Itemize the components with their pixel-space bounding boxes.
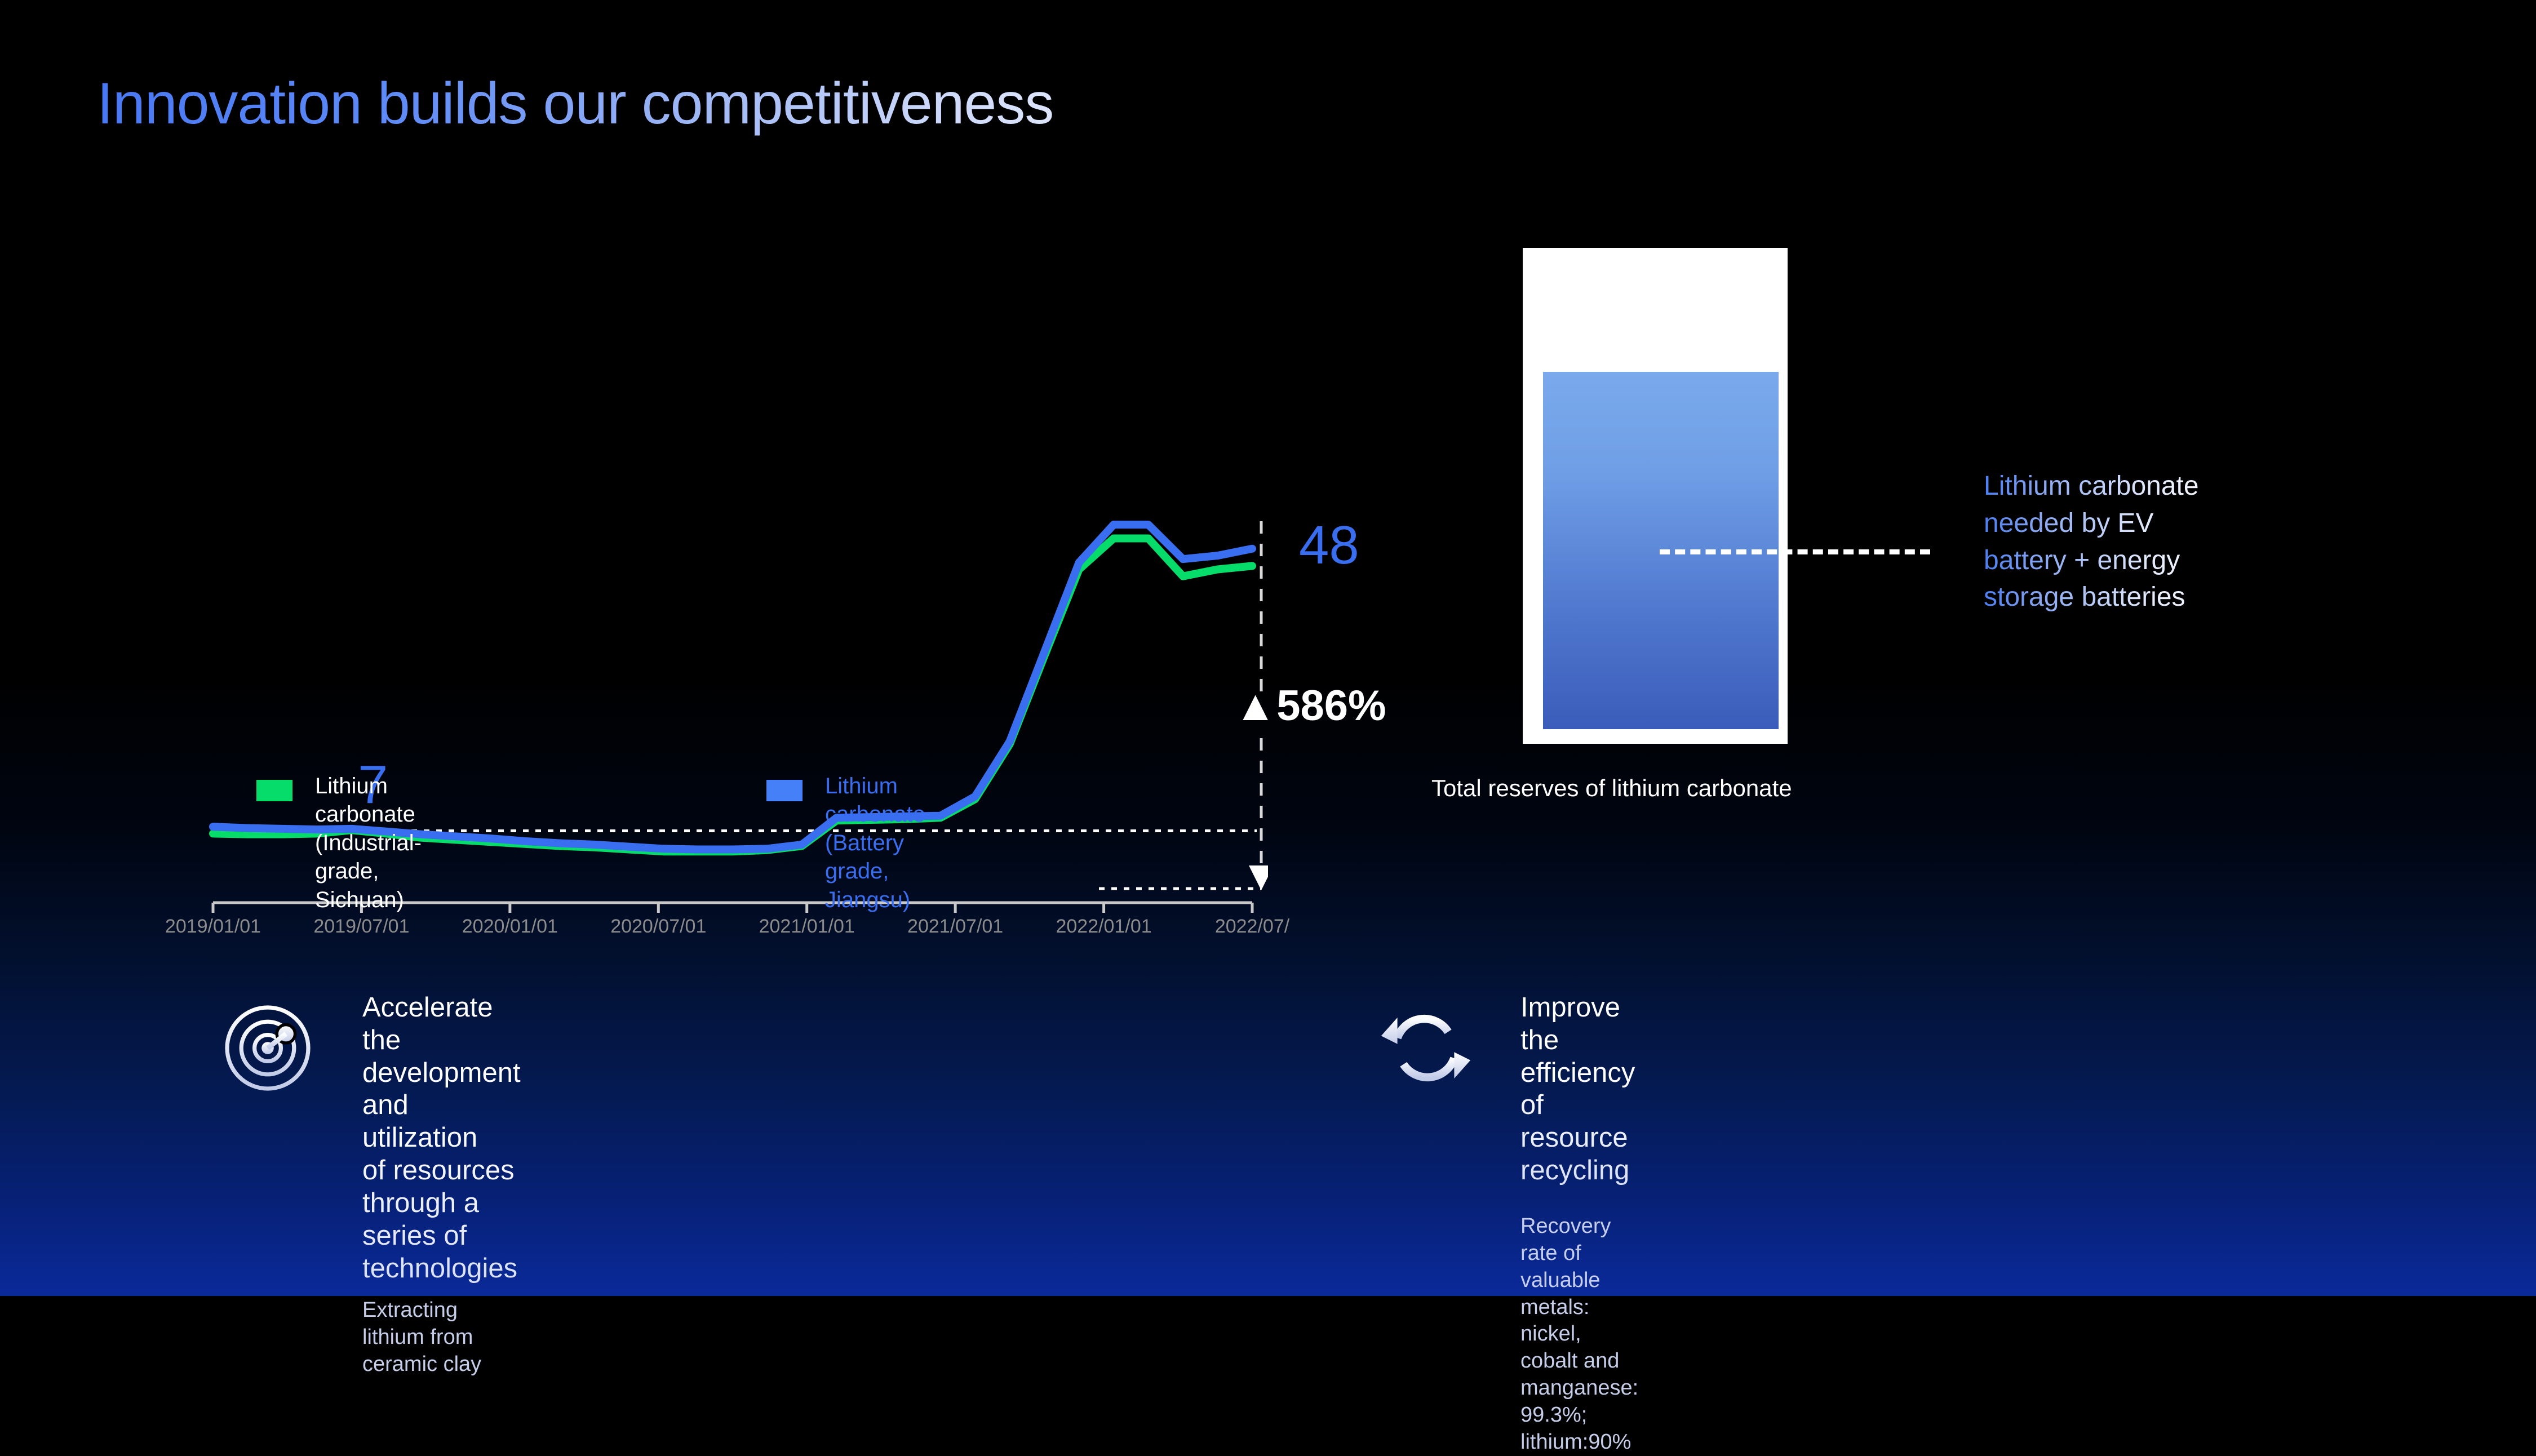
feature-right-body: Improve the efficiency of resource recyc… [1520, 992, 1638, 1456]
page-title: Innovation builds our competitiveness [97, 70, 1053, 137]
x-tick-label: 2021/01/01 [759, 916, 855, 938]
x-tick-label: 2020/01/01 [462, 916, 558, 938]
recycle-loop-icon [1375, 997, 1477, 1102]
x-tick-label: 2019/07/01 [313, 916, 409, 938]
end-value-label: 48 [1299, 518, 1359, 572]
reserves-marker-dashed-line [1660, 549, 1930, 554]
slide-stage: Innovation builds our competitiveness 7 … [0, 0, 2536, 1296]
reserves-demand-note: Lithium carbonate needed by EV battery +… [1984, 468, 2199, 616]
percent-change-label: ▲586% [1234, 685, 1386, 727]
x-tick-label: 2020/07/01 [610, 916, 706, 938]
reserves-container-box [1523, 248, 1788, 744]
measure-arrow-head [1249, 865, 1268, 890]
feature-right-heading: Improve the efficiency of resource recyc… [1520, 992, 1638, 1187]
radar-target-icon [217, 997, 318, 1102]
x-tick-label: 2021/07/01 [907, 916, 1003, 938]
legend-label-battery: Lithium carbonate (Battery grade, Jiangs… [825, 772, 925, 914]
reserves-caption: Total reserves of lithium carbonate [1431, 775, 1792, 802]
feature-right-subtext: Recovery rate of valuable metals: nickel… [1520, 1213, 1638, 1456]
legend-item-battery[interactable]: Lithium carbonate (Battery grade, Jiangs… [766, 772, 925, 914]
legend-swatch-battery [766, 780, 803, 801]
legend-label-industrial: Lithium carbonate (Industrial-grade, Sic… [315, 772, 422, 914]
reserves-container-graphic [1523, 248, 1788, 744]
legend-item-industrial[interactable]: Lithium carbonate (Industrial-grade, Sic… [256, 772, 422, 914]
x-tick-label: 2019/01/01 [165, 916, 261, 938]
x-tick-label: 2022/01/01 [1056, 916, 1151, 938]
feature-left-subtext: Extracting lithium from ceramic clay [362, 1297, 521, 1378]
feature-left-heading: Accelerate the development and utilizati… [362, 992, 521, 1285]
feature-left-body: Accelerate the development and utilizati… [362, 992, 521, 1378]
x-tick-label: 2022/07/ [1215, 916, 1289, 938]
legend-swatch-industrial [256, 780, 292, 801]
